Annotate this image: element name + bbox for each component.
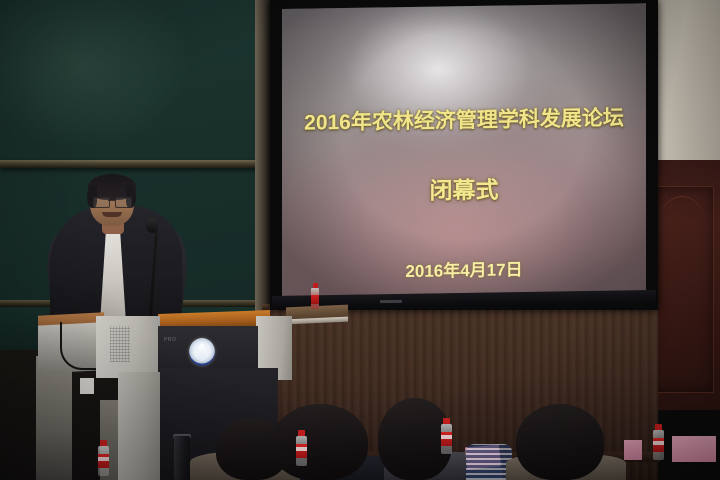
university-emblem-icon: [189, 338, 215, 366]
water-bottle-on-front-table: [311, 283, 319, 309]
slide-subtitle: 闭幕式: [282, 168, 646, 208]
slide-title: 2016年农林经济管理学科发展论坛: [282, 101, 646, 137]
podium-pillar: [118, 372, 164, 480]
pink-handout: [672, 436, 716, 462]
presentation-slide: 2016年农林经济管理学科发展论坛 闭幕式 2016年4月17日: [282, 3, 646, 296]
bottle-label-stripe: [653, 441, 664, 445]
water-bottle: [296, 430, 307, 466]
podium-speaker-grille: [110, 326, 130, 362]
thermos-flask: [174, 436, 190, 480]
bottle-label: [311, 295, 319, 304]
podium-cable: [60, 322, 96, 370]
water-bottle: [441, 418, 452, 454]
blackboard-frame: [255, 0, 271, 322]
left-wall-panel: [36, 356, 72, 480]
glasses-bridge: [108, 200, 115, 201]
audience-member: [516, 404, 604, 480]
bottle-label-stripe: [441, 435, 452, 439]
podium-brand-label: PRO: [164, 337, 176, 343]
speaker-mouth: [102, 212, 122, 217]
audience-member: [272, 404, 368, 480]
screen-bezel-logo: [380, 300, 402, 303]
bottle-label-stripe: [296, 447, 307, 451]
podium-tag: [80, 378, 94, 394]
conference-photo: 2016年农林经济管理学科发展论坛 闭幕式 2016年4月17日 PRO: [0, 0, 720, 480]
speaker-glasses: [92, 197, 132, 206]
slide-date: 2016年4月17日: [282, 253, 646, 284]
blackboard-chalk-rail: [0, 160, 262, 168]
microphone-icon: [146, 218, 158, 233]
bottle-label-stripe: [98, 457, 109, 461]
water-bottle: [653, 424, 664, 460]
glasses-lens-right: [115, 197, 132, 208]
glasses-lens-left: [93, 197, 110, 208]
pink-handout: [624, 440, 642, 460]
water-bottle: [98, 440, 109, 476]
